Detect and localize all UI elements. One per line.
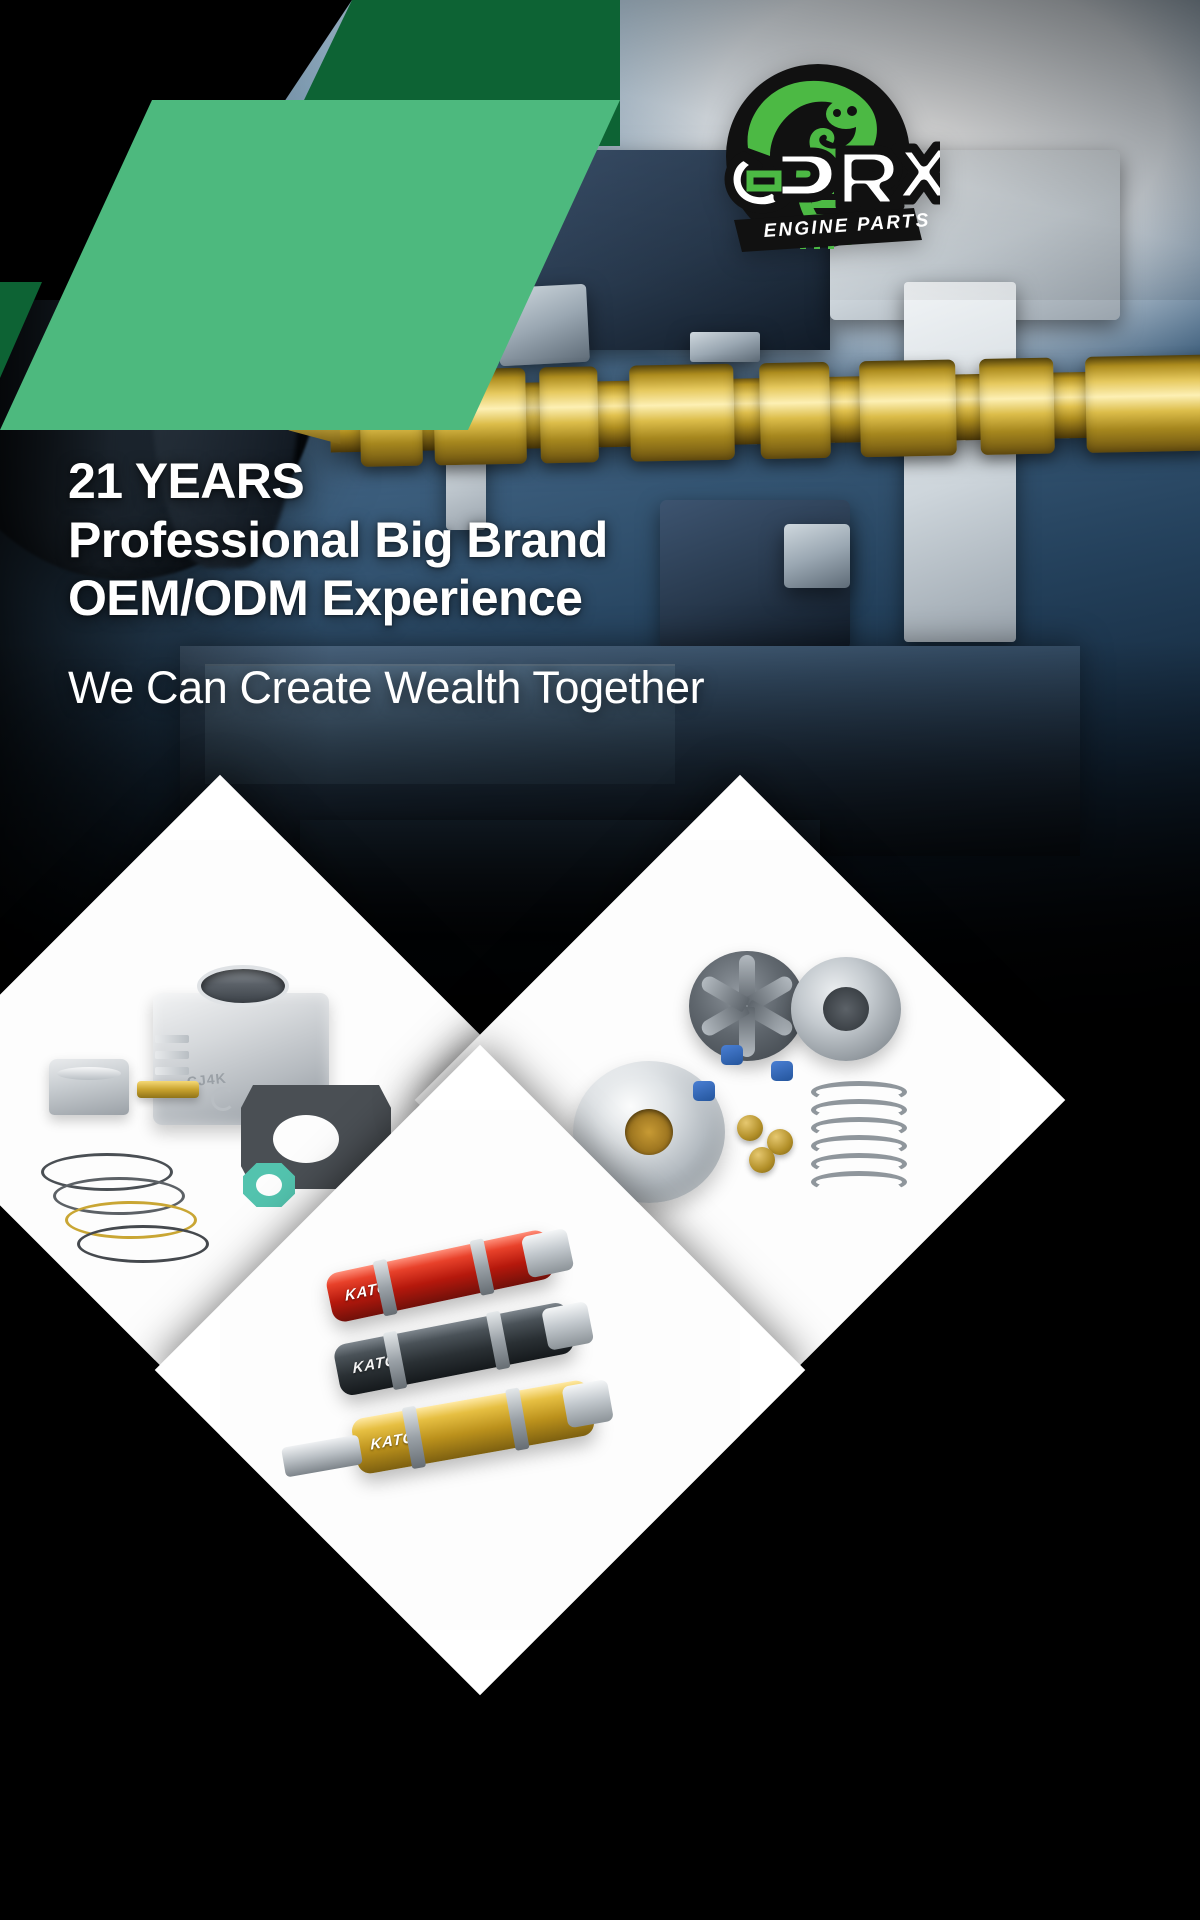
slider-guide <box>721 1045 743 1065</box>
slider-guide <box>693 1081 715 1101</box>
exhaust-muffler-gold: KATO <box>350 1379 596 1476</box>
cylinder-fin <box>155 1067 189 1075</box>
torque-spring <box>811 1081 907 1197</box>
cooling-fan-pulley <box>689 951 805 1061</box>
piston-pin <box>137 1081 199 1098</box>
camshaft-lobe <box>629 364 735 462</box>
tagline: We Can Create Wealth Together <box>68 662 1068 714</box>
slider-guide <box>771 1061 793 1081</box>
cylinder-fin <box>155 1035 189 1043</box>
clutch-drum <box>791 957 901 1061</box>
exhaust-clamp <box>486 1311 511 1371</box>
roller-weight <box>749 1147 775 1173</box>
headline-line-2: Professional Big Brand <box>68 511 1068 570</box>
camshaft-lobe <box>979 358 1055 455</box>
camshaft-lobe <box>859 359 957 457</box>
camshaft-lobe <box>1085 355 1200 453</box>
roller-weight <box>737 1115 763 1141</box>
cjrx-logo[interactable]: ENGINE PARTS <box>700 52 940 274</box>
promo-poster: ENGINE PARTS 21 YEARS Professional Big B… <box>0 0 1200 1920</box>
hero-copy: 21 YEARS Professional Big Brand OEM/ODM … <box>68 452 1068 714</box>
exhaust-outlet-cap <box>561 1379 614 1428</box>
exhaust-outlet-cap <box>541 1301 594 1351</box>
piston <box>49 1059 129 1115</box>
camshaft-lobe <box>759 362 831 459</box>
piston-ring <box>77 1225 209 1263</box>
exhaust-outlet-cap <box>521 1228 575 1279</box>
cylinder-bore <box>197 965 289 1007</box>
headline-line-1: 21 YEARS <box>68 452 1068 511</box>
page-title: 21 YEARS Professional Big Brand OEM/ODM … <box>68 452 1068 628</box>
base-gasket <box>243 1163 295 1207</box>
piston-circlip <box>211 1087 235 1111</box>
head-gasket-bore <box>273 1115 339 1163</box>
cylinder-fin <box>155 1051 189 1059</box>
spring-coil <box>811 1171 907 1193</box>
product-gallery: CJ4K <box>0 840 1200 1580</box>
headline-line-3: OEM/ODM Experience <box>68 569 1068 628</box>
exhaust-scene: KATO KATO KATO <box>265 1155 695 1585</box>
exhaust-clamp <box>470 1238 495 1296</box>
cutting-insert <box>690 332 760 362</box>
corner-accent-graphic <box>0 0 620 430</box>
exhaust-clamp <box>505 1387 530 1450</box>
exhaust-inlet-pipe <box>281 1434 363 1477</box>
